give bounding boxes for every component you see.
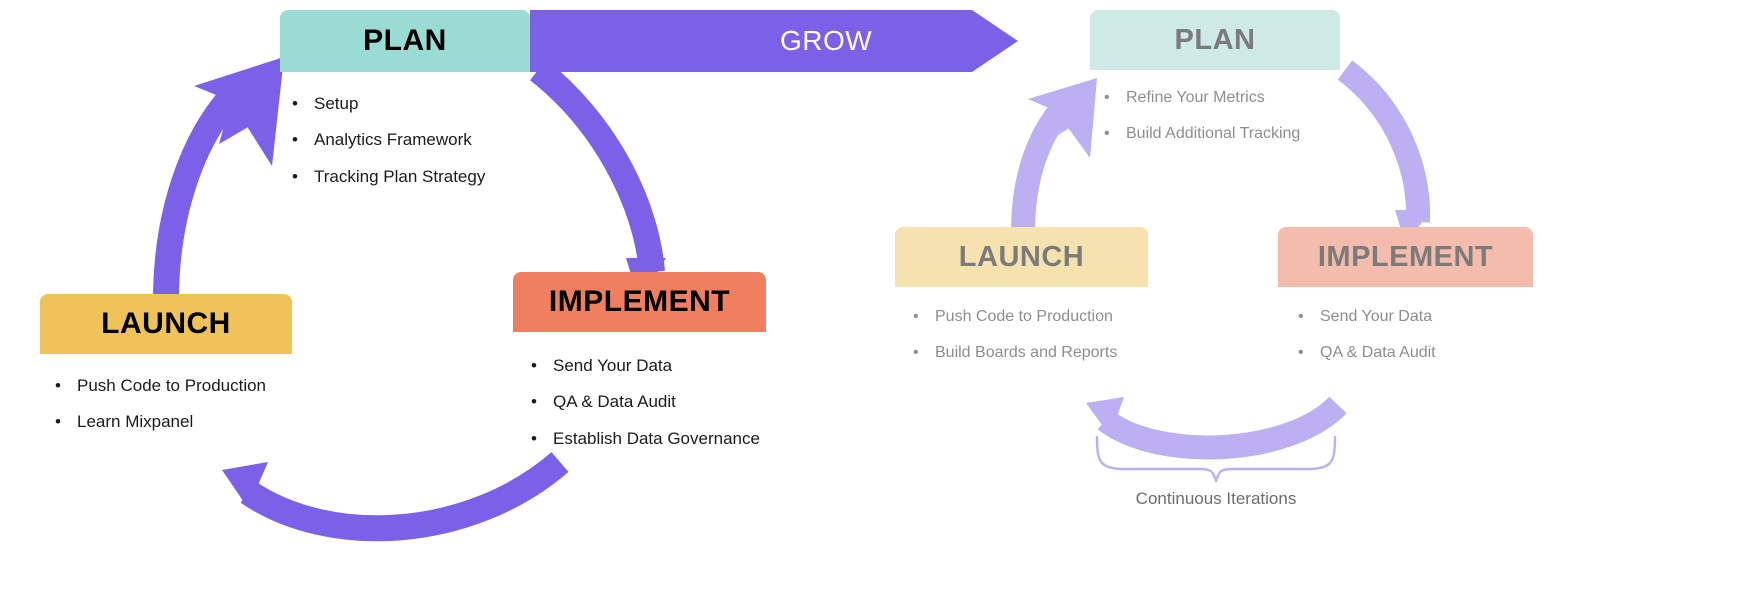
plan-active-title: PLAN	[280, 10, 530, 72]
arrow-implement-to-launch	[222, 462, 560, 528]
node-implement-active[interactable]: IMPLEMENT • Send Your Data • QA & Data A…	[513, 272, 766, 465]
bullet-glyph: •	[913, 307, 935, 326]
list-item-label: Build Additional Tracking	[1126, 124, 1340, 143]
grow-arrow	[530, 10, 1018, 72]
launch-faded-bullets: • Push Code to Production • Build Boards…	[895, 307, 1148, 362]
launch-faded-title: LAUNCH	[895, 227, 1148, 287]
list-item-label: Tracking Plan Strategy	[314, 167, 530, 187]
bullet-glyph: •	[55, 412, 77, 432]
list-item: • QA & Data Audit	[531, 392, 766, 412]
list-item-label: Build Boards and Reports	[935, 343, 1148, 362]
launch-active-bullets: • Push Code to Production • Learn Mixpan…	[40, 376, 292, 433]
bullet-glyph: •	[1298, 343, 1320, 362]
bullet-glyph: •	[1104, 88, 1126, 107]
continuous-iterations-label: Continuous Iterations	[1096, 489, 1336, 509]
bullet-glyph: •	[292, 94, 314, 114]
node-implement-faded[interactable]: IMPLEMENT • Send Your Data • QA & Data A…	[1278, 227, 1533, 379]
list-item-label: Push Code to Production	[77, 376, 292, 396]
implement-faded-bullets: • Send Your Data • QA & Data Audit	[1278, 307, 1533, 362]
bullet-glyph: •	[292, 167, 314, 187]
bullet-glyph: •	[531, 392, 553, 412]
list-item: • Tracking Plan Strategy	[292, 167, 530, 187]
list-item: • Send Your Data	[1298, 307, 1533, 326]
implement-faded-title: IMPLEMENT	[1278, 227, 1533, 287]
plan-faded-bullets: • Refine Your Metrics • Build Additional…	[1090, 88, 1340, 143]
list-item-label: Push Code to Production	[935, 307, 1148, 326]
continuous-iterations-brace	[1097, 437, 1335, 481]
list-item: • Build Boards and Reports	[913, 343, 1148, 362]
node-plan-active[interactable]: PLAN • Setup • Analytics Framework • Tra…	[280, 10, 530, 203]
list-item: • Send Your Data	[531, 356, 766, 376]
list-item: • Push Code to Production	[55, 376, 292, 396]
list-item-label: QA & Data Audit	[1320, 343, 1533, 362]
list-item-label: QA & Data Audit	[553, 392, 766, 412]
node-launch-active[interactable]: LAUNCH • Push Code to Production • Learn…	[40, 294, 292, 449]
node-plan-faded[interactable]: PLAN • Refine Your Metrics • Build Addit…	[1090, 10, 1340, 160]
diagram-canvas: GROW PLAN • Setup • Analytics Framework …	[0, 0, 1740, 589]
launch-active-title: LAUNCH	[40, 294, 292, 354]
bullet-glyph: •	[1104, 124, 1126, 143]
list-item-label: Establish Data Governance	[553, 429, 766, 449]
bullet-glyph: •	[531, 429, 553, 449]
list-item: • Learn Mixpanel	[55, 412, 292, 432]
arrow-launch-to-plan	[166, 57, 284, 300]
list-item: • Push Code to Production	[913, 307, 1148, 326]
list-item-label: Learn Mixpanel	[77, 412, 292, 432]
list-item-label: Send Your Data	[553, 356, 766, 376]
list-item-label: Send Your Data	[1320, 307, 1533, 326]
arrow-faded-implement-to-launch	[1086, 397, 1338, 447]
bullet-glyph: •	[531, 356, 553, 376]
list-item: • Setup	[292, 94, 530, 114]
list-item: • Build Additional Tracking	[1104, 124, 1340, 143]
arrow-faded-plan-to-implement	[1345, 70, 1430, 246]
list-item-label: Refine Your Metrics	[1126, 88, 1340, 107]
arrow-faded-launch-to-plan	[1023, 78, 1097, 232]
list-item: • QA & Data Audit	[1298, 343, 1533, 362]
plan-active-bullets: • Setup • Analytics Framework • Tracking…	[280, 94, 530, 187]
bullet-glyph: •	[55, 376, 77, 396]
list-item: • Refine Your Metrics	[1104, 88, 1340, 107]
implement-active-title: IMPLEMENT	[513, 272, 766, 332]
list-item: • Establish Data Governance	[531, 429, 766, 449]
list-item-label: Setup	[314, 94, 530, 114]
list-item: • Analytics Framework	[292, 130, 530, 150]
implement-active-bullets: • Send Your Data • QA & Data Audit • Est…	[513, 356, 766, 449]
bullet-glyph: •	[1298, 307, 1320, 326]
grow-label: GROW	[780, 25, 872, 57]
bullet-glyph: •	[292, 130, 314, 150]
node-launch-faded[interactable]: LAUNCH • Push Code to Production • Build…	[895, 227, 1148, 379]
arrow-plan-to-implement	[538, 70, 666, 300]
plan-faded-title: PLAN	[1090, 10, 1340, 70]
bullet-glyph: •	[913, 343, 935, 362]
list-item-label: Analytics Framework	[314, 130, 530, 150]
